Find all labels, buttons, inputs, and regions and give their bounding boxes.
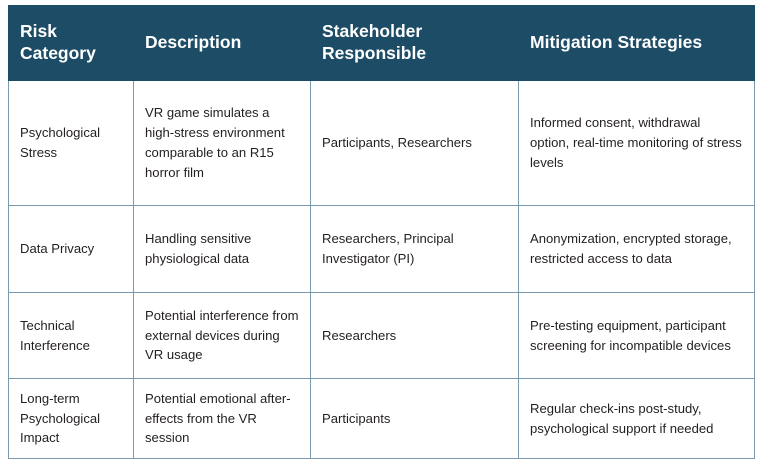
cell-risk-category-text: Long-term Psychological Impact — [20, 389, 122, 449]
cell-mitigation-strategies-text: Pre-testing equipment, participant scree… — [530, 316, 743, 356]
column-header-stakeholder-responsible: Stakeholder Responsible — [311, 6, 519, 81]
cell-description-text: Potential interference from external dev… — [145, 306, 299, 366]
cell-description-text: Potential emotional after-effects from t… — [145, 389, 299, 449]
column-header-mitigation-strategies-label: Mitigation Strategies — [530, 31, 743, 53]
column-header-stakeholder-responsible-label: Stakeholder Responsible — [322, 20, 507, 64]
cell-description: VR game simulates a high-stress environm… — [134, 81, 311, 206]
cell-description: Potential emotional after-effects from t… — [134, 379, 311, 459]
risk-assessment-table-container: Risk Category Description Stakeholder Re… — [8, 5, 754, 458]
cell-description-text: Handling sensitive physiological data — [145, 229, 299, 269]
cell-description: Potential interference from external dev… — [134, 293, 311, 379]
cell-risk-category-text: Technical Interference — [20, 316, 122, 356]
cell-description-text: VR game simulates a high-stress environm… — [145, 103, 299, 183]
column-header-description-label: Description — [145, 31, 299, 53]
column-header-risk-category: Risk Category — [9, 6, 134, 81]
cell-mitigation-strategies: Pre-testing equipment, participant scree… — [519, 293, 755, 379]
cell-stakeholder-responsible: Researchers — [311, 293, 519, 379]
table-row: Long-term Psychological Impact Potential… — [9, 379, 755, 459]
cell-mitigation-strategies: Regular check-ins post-study, psychologi… — [519, 379, 755, 459]
cell-stakeholder-responsible-text: Researchers — [322, 326, 507, 346]
table-header: Risk Category Description Stakeholder Re… — [9, 6, 755, 81]
cell-mitigation-strategies-text: Regular check-ins post-study, psychologi… — [530, 399, 743, 439]
cell-mitigation-strategies-text: Anonymization, encrypted storage, restri… — [530, 229, 743, 269]
table-row: Data Privacy Handling sensitive physiolo… — [9, 206, 755, 293]
cell-risk-category: Data Privacy — [9, 206, 134, 293]
cell-stakeholder-responsible-text: Participants, Researchers — [322, 133, 507, 153]
cell-stakeholder-responsible-text: Researchers, Principal Investigator (PI) — [322, 229, 507, 269]
cell-stakeholder-responsible: Researchers, Principal Investigator (PI) — [311, 206, 519, 293]
cell-stakeholder-responsible: Participants — [311, 379, 519, 459]
cell-risk-category: Long-term Psychological Impact — [9, 379, 134, 459]
table-header-row: Risk Category Description Stakeholder Re… — [9, 6, 755, 81]
cell-description: Handling sensitive physiological data — [134, 206, 311, 293]
column-header-risk-category-label: Risk Category — [20, 20, 122, 64]
risk-assessment-table: Risk Category Description Stakeholder Re… — [8, 5, 755, 459]
cell-risk-category-text: Data Privacy — [20, 239, 122, 259]
table-body: Psychological Stress VR game simulates a… — [9, 81, 755, 459]
cell-mitigation-strategies: Informed consent, withdrawal option, rea… — [519, 81, 755, 206]
table-row: Technical Interference Potential interfe… — [9, 293, 755, 379]
cell-mitigation-strategies-text: Informed consent, withdrawal option, rea… — [530, 113, 743, 173]
cell-mitigation-strategies: Anonymization, encrypted storage, restri… — [519, 206, 755, 293]
cell-stakeholder-responsible: Participants, Researchers — [311, 81, 519, 206]
column-header-mitigation-strategies: Mitigation Strategies — [519, 6, 755, 81]
cell-risk-category: Psychological Stress — [9, 81, 134, 206]
column-header-description: Description — [134, 6, 311, 81]
cell-risk-category: Technical Interference — [9, 293, 134, 379]
cell-stakeholder-responsible-text: Participants — [322, 409, 507, 429]
cell-risk-category-text: Psychological Stress — [20, 123, 122, 163]
table-row: Psychological Stress VR game simulates a… — [9, 81, 755, 206]
